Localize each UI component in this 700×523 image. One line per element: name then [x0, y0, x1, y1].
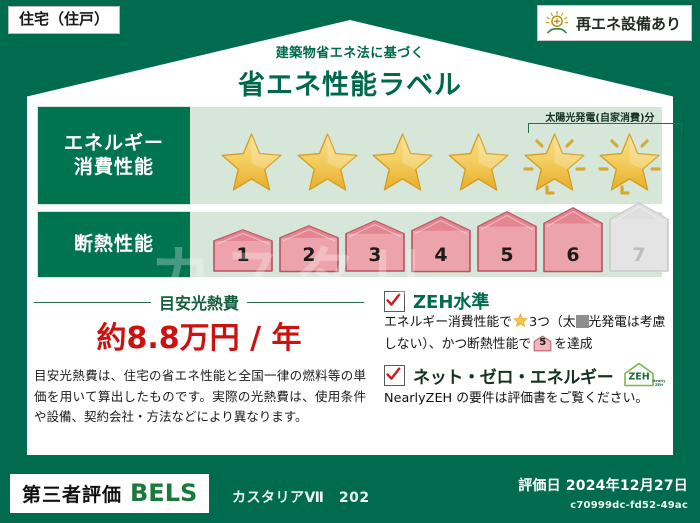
zeh-standard-check-row: ZEH水準	[384, 288, 489, 314]
energy-star	[365, 125, 435, 199]
insulation-performance-panel: 断熱性能 1 2 3	[38, 212, 662, 277]
insulation-grade-house: 2	[278, 224, 340, 274]
evaluation-date: 評価日 2024年12月27日	[518, 475, 688, 495]
energy-consumption-body: 太陽光発電(自家消費)分	[190, 107, 662, 204]
net-zero-energy-check-row: ネット・ゼロ・エネルギー ZEH Nearly ZEH	[384, 361, 665, 389]
energy-star	[441, 125, 511, 199]
solar-generation-caption: 太陽光発電(自家消費)分	[520, 109, 680, 124]
insulation-grade-house: 6	[542, 206, 604, 274]
insulation-grade-house: 4	[410, 215, 472, 274]
checkbox-zeh[interactable]	[384, 291, 405, 312]
insulation-grade-number: 4	[410, 244, 472, 266]
net-zero-energy-description: NearlyZEH の要件は評価書をご覧ください。	[384, 389, 676, 409]
checkbox-net-zero-energy[interactable]	[384, 365, 405, 386]
insulation-grade-number: 6	[542, 244, 604, 266]
insulation-label-text: 断熱性能	[74, 233, 154, 257]
insulation-grade-number: 5	[476, 244, 538, 266]
zeh-desc-part4: を達成	[554, 337, 592, 352]
insulation-grade-number: 3	[344, 244, 406, 266]
insulation-performance-body: 1 2 3 4 5	[190, 212, 662, 277]
zeh-desc-part1: エネルギー消費性能で	[384, 315, 512, 330]
heading-rule-left	[34, 302, 151, 303]
zeh-standard-description: エネルギー消費性能で3つ（太光発電は考慮しない）、かつ断熱性能で5を達成	[384, 313, 676, 355]
zeh-standard-label: ZEH水準	[413, 288, 489, 314]
energy-star-solar	[517, 125, 587, 199]
utility-cost-heading: 目安光熱費	[34, 290, 364, 314]
svg-text:ZEH: ZEH	[629, 371, 650, 382]
energy-consumption-label: エネルギー 消費性能	[38, 107, 190, 204]
energy-star-rating	[214, 123, 662, 201]
bels-english-label: BELS	[130, 479, 197, 507]
heading-rule-right	[247, 302, 364, 303]
energy-star	[290, 125, 360, 199]
label-title: 建築物省エネ法に基づく 省エネ性能ラベル	[0, 42, 700, 102]
sun-icon	[544, 10, 570, 36]
insulation-grade-number: 2	[278, 244, 340, 266]
bels-badge: 第三者評価 BELS	[10, 474, 209, 513]
check-icon	[386, 293, 401, 308]
title-subtitle: 建築物省エネ法に基づく	[0, 42, 700, 61]
star-icon	[513, 313, 528, 335]
insulation-grade-inline-icon: 5	[533, 335, 552, 352]
insulation-grade-house: 7	[608, 201, 670, 273]
insulation-grade-inline-number: 5	[533, 335, 552, 351]
insulation-grade-scale: 1 2 3 4 5	[212, 212, 654, 273]
title-main: 省エネ性能ラベル	[0, 63, 700, 102]
energy-performance-label: カスタリア 住宅（住戸） 再エネ設備あり	[0, 0, 700, 523]
renewable-equipment-chip: 再エネ設備あり	[537, 5, 692, 41]
energy-label-line1: エネルギー	[64, 132, 164, 156]
property-name: カスタリアⅦ 202	[232, 487, 370, 507]
energy-star-solar	[592, 125, 662, 199]
zeh-desc-part2: 3つ（太	[529, 315, 576, 330]
dwelling-type-label: 住宅（住戸）	[19, 10, 109, 28]
insulation-grade-house: 5	[476, 210, 538, 273]
bels-japanese-label: 第三者評価	[22, 480, 122, 507]
renewable-equipment-label: 再エネ設備あり	[576, 13, 681, 34]
insulation-performance-label: 断熱性能	[38, 212, 190, 277]
insulation-grade-house: 1	[212, 228, 274, 273]
insulation-grade-number: 1	[212, 244, 274, 266]
utility-cost-note: 目安光熱費は、住宅の省エネ性能と全国一律の燃料等の単価を用いて算出したものです。…	[34, 366, 366, 428]
check-icon	[386, 367, 401, 382]
insulation-grade-number: 7	[608, 244, 670, 266]
redaction-box	[576, 315, 589, 328]
energy-consumption-panel: エネルギー 消費性能 太陽光発電(自家消費)分	[38, 107, 662, 204]
utility-cost-value: 約8.8万円 / 年	[34, 313, 364, 357]
utility-cost-heading-text: 目安光熱費	[159, 290, 239, 314]
energy-label-line2: 消費性能	[74, 156, 154, 180]
evaluation-id: c70999dc-fd52-49ac	[570, 500, 688, 511]
energy-star	[214, 125, 284, 199]
svg-text:ZEH: ZEH	[655, 383, 663, 387]
insulation-grade-house: 3	[344, 219, 406, 273]
zeh-logo-icon: ZEH Nearly ZEH	[621, 361, 665, 389]
dwelling-type-chip: 住宅（住戸）	[8, 6, 120, 34]
net-zero-energy-label: ネット・ゼロ・エネルギー	[413, 363, 613, 388]
